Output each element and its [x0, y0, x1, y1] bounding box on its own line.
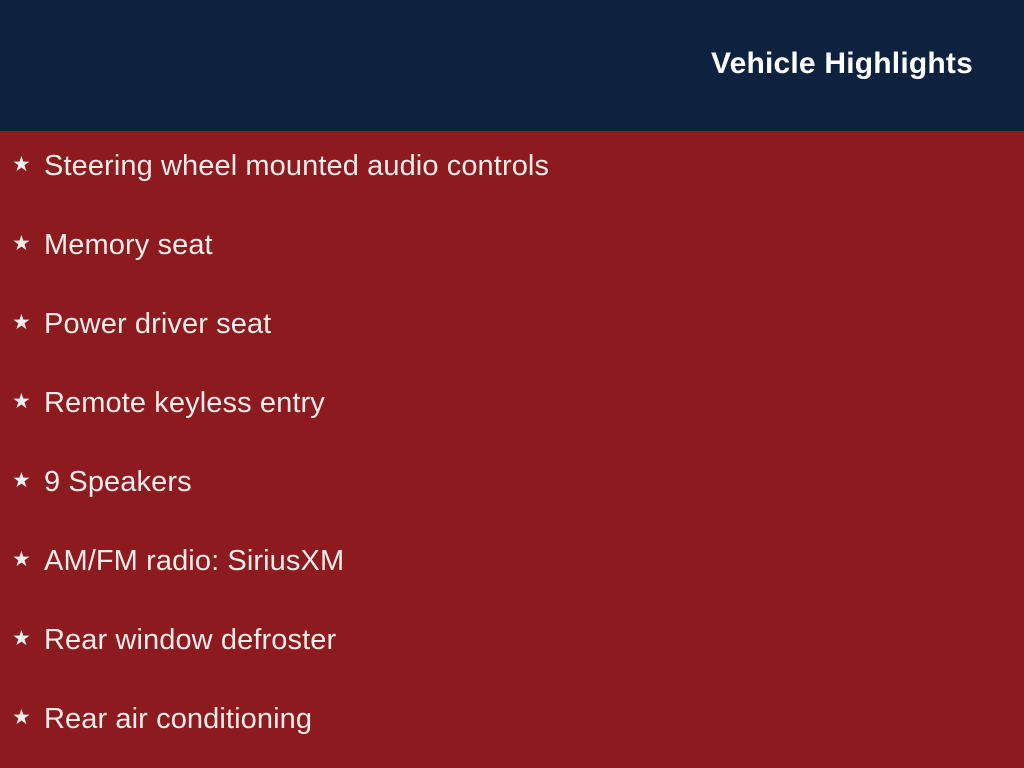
star-icon: ★ — [12, 391, 44, 412]
list-item-label: Rear window defroster — [44, 626, 336, 655]
list-item: ★ AM/FM radio: SiriusXM — [0, 547, 1024, 626]
star-icon: ★ — [12, 707, 44, 728]
list-item: ★ Steering wheel mounted audio controls — [0, 152, 1024, 231]
list-item: ★ Remote keyless entry — [0, 389, 1024, 468]
list-item-label: Remote keyless entry — [44, 389, 325, 418]
list-item-label: Rear air conditioning — [44, 705, 312, 734]
list-item-label: 9 Speakers — [44, 468, 192, 497]
list-item-label: Power driver seat — [44, 310, 271, 339]
star-icon: ★ — [12, 312, 44, 333]
slide: Vehicle Highlights ★ Steering wheel moun… — [0, 0, 1024, 768]
star-icon: ★ — [12, 470, 44, 491]
star-icon: ★ — [12, 628, 44, 649]
list-item: ★ Rear window defroster — [0, 626, 1024, 705]
list-item-label: Memory seat — [44, 231, 213, 260]
vehicle-highlights-list: ★ Steering wheel mounted audio controls … — [0, 131, 1024, 768]
list-item: ★ Memory seat — [0, 231, 1024, 310]
list-item: ★ Power driver seat — [0, 310, 1024, 389]
star-icon: ★ — [12, 233, 44, 254]
list-item-label: Steering wheel mounted audio controls — [44, 152, 549, 181]
list-item: ★ Rear air conditioning — [0, 705, 1024, 768]
star-icon: ★ — [12, 154, 44, 175]
list-item: ★ 9 Speakers — [0, 468, 1024, 547]
slide-header-bar: Vehicle Highlights — [0, 0, 1024, 131]
page-title: Vehicle Highlights — [711, 46, 973, 82]
star-icon: ★ — [12, 549, 44, 570]
list-item-label: AM/FM radio: SiriusXM — [44, 547, 344, 576]
